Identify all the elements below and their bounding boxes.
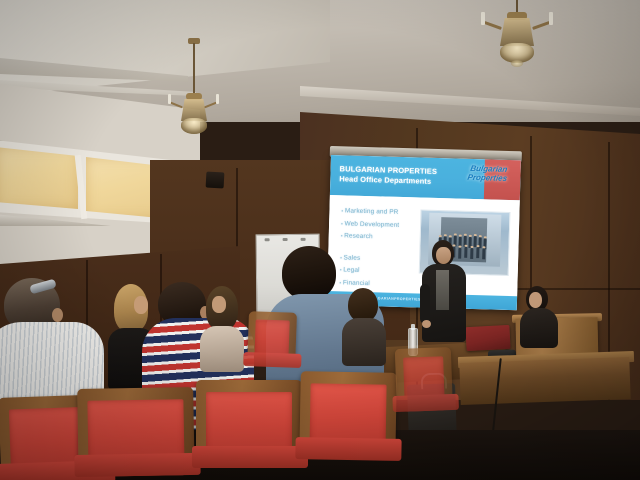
audience-head [282, 246, 336, 300]
chair [299, 371, 397, 467]
slide-bullet-list: Marketing and PR Web Development Researc… [339, 205, 417, 291]
audience-torso [342, 318, 386, 366]
bullet-item: Financial [339, 277, 415, 292]
audience-face [134, 296, 148, 314]
presenter-blouse [436, 270, 449, 310]
colleague-face [529, 292, 542, 308]
window-pane-left [0, 147, 78, 209]
front-table [459, 357, 630, 405]
chair [77, 387, 195, 480]
presenter-arm [420, 284, 430, 324]
laptop [465, 325, 510, 351]
chair [247, 311, 297, 371]
chair [196, 380, 302, 476]
bulgarian-properties-logo: Bulgarian Properties [458, 164, 516, 191]
wall-speaker [206, 172, 225, 189]
colleague-torso [520, 308, 558, 348]
presenter-hand [422, 320, 431, 328]
audience-torso [200, 326, 244, 372]
bullet-item: Research [341, 230, 417, 245]
audience-ear [52, 308, 63, 322]
audience-face [212, 296, 226, 313]
audience-head [348, 288, 378, 322]
conference-room-photo: BULGARIAN PROPERTIES Head Office Departm… [0, 0, 640, 480]
chair [395, 347, 453, 419]
presenter-face [436, 247, 451, 264]
logo-line-2: Properties [460, 173, 515, 183]
